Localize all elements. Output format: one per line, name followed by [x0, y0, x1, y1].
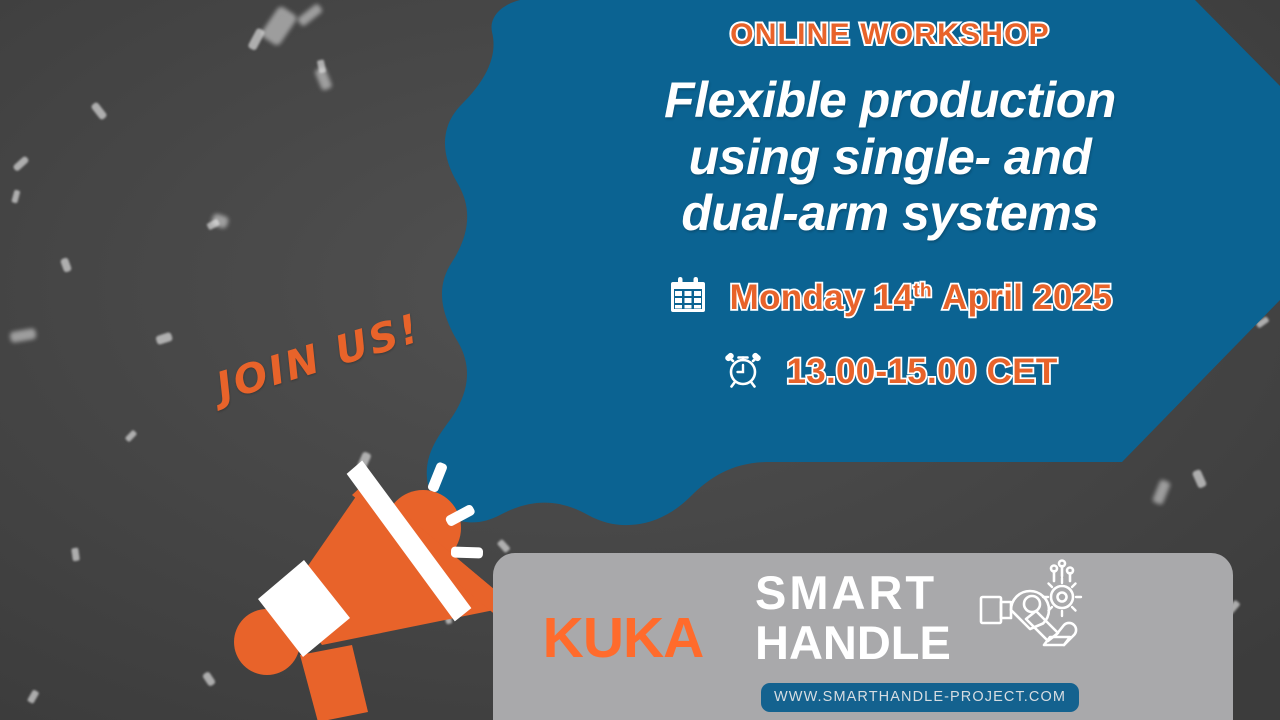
logo-card: KUKA SMART HANDLE — [493, 553, 1233, 720]
website-url-pill[interactable]: WWW.SMARTHANDLE-PROJECT.COM — [761, 683, 1079, 712]
kuka-logo: KUKA — [507, 610, 739, 667]
robot-arm-icon — [978, 559, 1090, 668]
alarm-clock-icon — [722, 349, 764, 396]
event-date-row: Monday 14th April 2025 — [560, 276, 1220, 321]
event-time-row: 13.00-15.00 CET — [560, 349, 1220, 396]
title-line-2: using single- and — [560, 129, 1220, 186]
title-line-3: dual-arm systems — [560, 185, 1220, 242]
calendar-icon — [668, 276, 708, 321]
title-line-1: Flexible production — [560, 72, 1220, 129]
event-time-text: 13.00-15.00 CET — [786, 352, 1057, 392]
event-date-text: Monday 14th April 2025 — [730, 278, 1113, 318]
banner-content: ONLINE WORKSHOP Flexible production usin… — [560, 18, 1220, 396]
page-title: Flexible production using single- and du… — [560, 72, 1220, 242]
workshop-promo-poster: ONLINE WORKSHOP Flexible production usin… — [0, 0, 1280, 720]
eyebrow-label: ONLINE WORKSHOP — [560, 18, 1220, 52]
